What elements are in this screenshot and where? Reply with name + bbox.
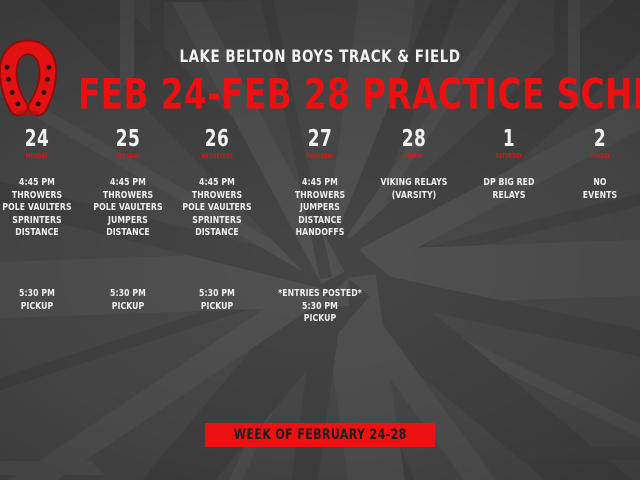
activity-line: (VARSITY): [367, 190, 462, 203]
day-activity-list: 4:45 PMTHROWERSPOLE VAULTERSSPRINTERSDIS…: [170, 177, 265, 240]
activity-line: VIKING RELAYS: [367, 177, 462, 190]
pickup-line: PICKUP: [273, 313, 368, 326]
day-activity-list: VIKING RELAYS(VARSITY): [367, 177, 462, 202]
day-weekday-label: WEDNESDAY: [173, 153, 261, 160]
practice-schedule-poster: LAKE BELTON BOYS TRACK & FIELD FEB 24-FE…: [0, 0, 640, 480]
page-title: FEB 24-FEB 28 PRACTICE SCHEDULE: [78, 74, 640, 115]
day-column-wednesday: 26WEDNESDAY4:45 PMTHROWERSPOLE VAULTERSS…: [162, 128, 272, 240]
activity-line: 4:45 PM: [0, 177, 84, 190]
day-activity-list: 4:45 PMTHROWERSPOLE VAULTERSSPRINTERSDIS…: [0, 177, 84, 240]
day-number: 1: [464, 128, 554, 151]
activity-line: RELAYS: [462, 190, 557, 203]
activity-line: EVENTS: [553, 190, 640, 203]
activity-line: HANDOFFS: [273, 227, 368, 240]
activity-line: DISTANCE: [170, 227, 265, 240]
day-number: 24: [0, 128, 82, 151]
activity-line: SPRINTERS: [170, 215, 265, 228]
day-activity-list: DP BIG REDRELAYS: [462, 177, 557, 202]
activity-line: POLE VAULTERS: [0, 202, 84, 215]
pickup-line: 5:30 PM: [170, 288, 265, 301]
activity-line: 4:45 PM: [273, 177, 368, 190]
day-number: 26: [172, 128, 262, 151]
entries-posted-note: *ENTRIES POSTED*: [273, 288, 368, 301]
organization-title: LAKE BELTON BOYS TRACK & FIELD: [38, 47, 601, 67]
activity-line: POLE VAULTERS: [170, 202, 265, 215]
activity-line: JUMPERS: [273, 202, 368, 215]
day-number: 2: [555, 128, 640, 151]
day-weekday-label: SATURDAY: [465, 153, 553, 160]
day-weekday-label: MONDAY: [0, 153, 81, 160]
activity-line: DP BIG RED: [462, 177, 557, 190]
activity-line: 4:45 PM: [170, 177, 265, 190]
day-column-sunday: 2SUNDAYNOEVENTS: [545, 128, 640, 202]
day-weekday-label: FRIDAY: [370, 153, 458, 160]
day-number: 27: [275, 128, 365, 151]
day-weekday-label: TUESDAY: [84, 153, 172, 160]
activity-line: NO: [553, 177, 640, 190]
pickup-line: 5:30 PM: [0, 288, 84, 301]
pickup-line: 5:30 PM: [273, 301, 368, 314]
day-column-friday: 28FRIDAYVIKING RELAYS(VARSITY): [359, 128, 469, 202]
pickup-line: PICKUP: [0, 301, 84, 314]
day-activity-list: 4:45 PMTHROWERSJUMPERSDISTANCEHANDOFFS: [273, 177, 368, 240]
activity-line: DISTANCE: [273, 215, 368, 228]
day-pickup-block: *ENTRIES POSTED*5:30 PMPICKUP: [265, 288, 375, 326]
day-activity-list: NOEVENTS: [553, 177, 640, 202]
day-number: 25: [83, 128, 173, 151]
activity-line: THROWERS: [273, 190, 368, 203]
pickup-line: PICKUP: [170, 301, 265, 314]
activity-line: DISTANCE: [0, 227, 84, 240]
activity-line: THROWERS: [170, 190, 265, 203]
week-banner: WEEK OF FEBRUARY 24-28: [205, 423, 435, 447]
activity-line: THROWERS: [0, 190, 84, 203]
activity-line: SPRINTERS: [0, 215, 84, 228]
day-weekday-label: SUNDAY: [556, 153, 640, 160]
day-weekday-label: THURSDAY: [276, 153, 364, 160]
day-number: 28: [369, 128, 459, 151]
week-banner-label: WEEK OF FEBRUARY 24-28: [234, 427, 407, 443]
day-pickup-block: 5:30 PMPICKUP: [162, 288, 272, 313]
